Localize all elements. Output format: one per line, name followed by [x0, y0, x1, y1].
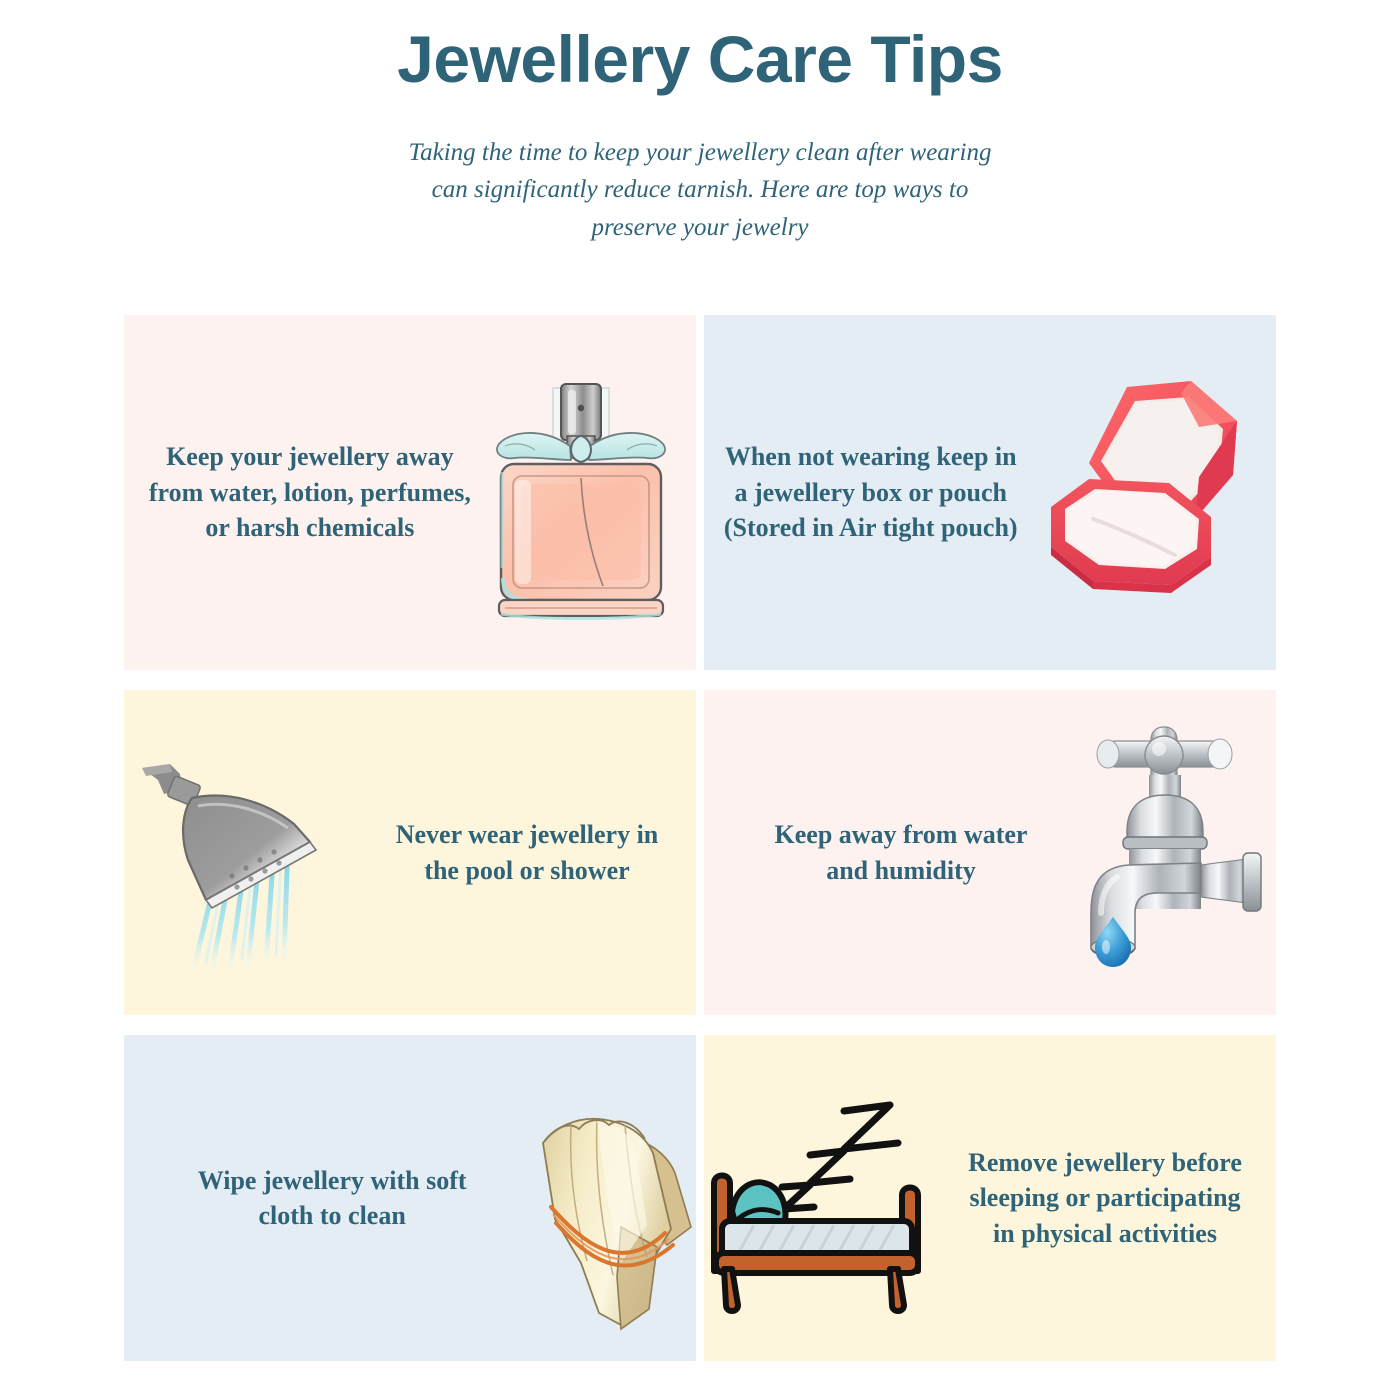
tips-grid: Keep your jewellery away from water, lot… — [124, 315, 1276, 1361]
tip-card-illustration — [1066, 690, 1276, 1015]
faucet-drip-icon — [1075, 713, 1277, 993]
tip-card-cloth: Wipe jewellery with soft cloth to clean — [124, 1035, 696, 1361]
tip-card-sleep: Remove jewellery before sleeping or part… — [704, 1035, 1276, 1361]
tip-card-text: Remove jewellery before sleeping or part… — [962, 1145, 1276, 1251]
shower-head-icon — [136, 750, 356, 980]
polishing-cloth-icon — [525, 1077, 696, 1347]
perfume-bottle-icon — [475, 368, 685, 638]
header: Jewellery Care Tips Taking the time to k… — [0, 0, 1400, 246]
tip-card-illustration — [470, 325, 690, 670]
tip-card-perfume: Keep your jewellery away from water, lot… — [124, 315, 696, 670]
tip-card-illustration — [704, 1043, 946, 1361]
infographic-page: Jewellery Care Tips Taking the time to k… — [0, 0, 1400, 1400]
page-title: Jewellery Care Tips — [0, 22, 1400, 98]
tip-card-text: Never wear jewellery in the pool or show… — [384, 817, 696, 888]
tip-card-illustration — [1027, 315, 1276, 664]
tip-card-faucet: Keep away from water and humidity — [704, 690, 1276, 1015]
tip-card-text: Keep away from water and humidity — [704, 817, 1044, 888]
tip-card-text: Keep your jewellery away from water, lot… — [124, 439, 476, 545]
tip-card-text: Wipe jewellery with soft cloth to clean — [124, 1163, 492, 1234]
tip-card-text: When not wearing keep in a jewellery box… — [704, 439, 1019, 545]
page-subtitle: Taking the time to keep your jewellery c… — [390, 134, 1010, 247]
tip-card-illustration — [124, 702, 376, 1015]
tip-card-jewellery-box: When not wearing keep in a jewellery box… — [704, 315, 1276, 670]
bed-sleep-icon — [704, 1091, 942, 1321]
ring-box-icon — [1041, 367, 1271, 607]
tip-card-illustration — [518, 1049, 696, 1361]
tip-card-shower: Never wear jewellery in the pool or show… — [124, 690, 696, 1015]
